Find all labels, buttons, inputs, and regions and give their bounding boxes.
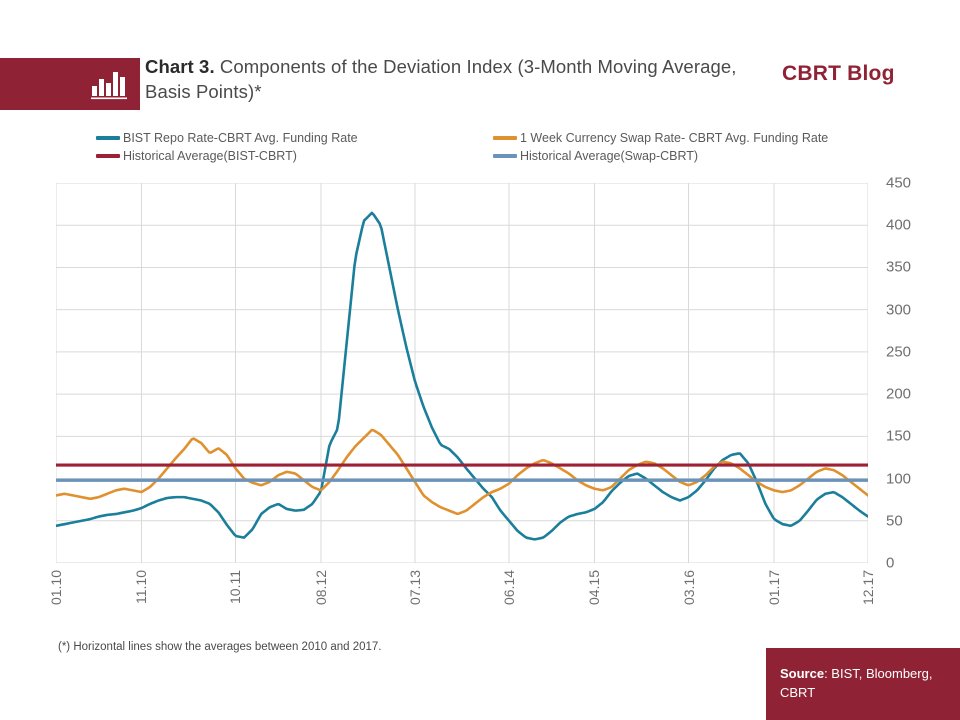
chart-svg	[56, 183, 868, 563]
brand-banner	[0, 58, 140, 110]
page-title: Chart 3. Components of the Deviation Ind…	[145, 54, 745, 104]
x-axis-tick-label: 03.16	[681, 570, 697, 605]
y-axis-tick-label: 400	[886, 217, 911, 234]
x-axis-tick-label: 08.12	[313, 570, 329, 605]
y-axis-tick-label: 50	[886, 512, 903, 529]
legend-label: BIST Repo Rate-CBRT Avg. Funding Rate	[123, 131, 358, 145]
x-axis-tick-label: 12.17	[860, 570, 876, 605]
chart-title-text: Components of the Deviation Index (3-Mon…	[145, 56, 736, 102]
x-axis-tick-label: 07.13	[407, 570, 423, 605]
x-axis-tick-label: 04.15	[586, 570, 602, 605]
legend-swatch-icon	[493, 136, 517, 140]
legend-swatch-icon	[493, 154, 517, 158]
x-axis-tick-label: 01.17	[766, 570, 782, 605]
chart-footnote: (*) Horizontal lines show the averages b…	[58, 641, 381, 653]
page-header: Chart 3. Components of the Deviation Ind…	[0, 58, 960, 110]
legend-label: Historical Average(BIST-CBRT)	[123, 149, 297, 163]
y-axis-tick-label: 250	[886, 343, 911, 360]
legend-item[interactable]: Historical Average(Swap-CBRT)	[493, 149, 698, 163]
brand-title: CBRT Blog	[782, 62, 895, 86]
x-axis-tick-label: 01.10	[48, 570, 64, 605]
bar-chart-icon	[90, 68, 130, 100]
x-axis-tick-label: 10.11	[227, 570, 243, 604]
y-axis-tick-label: 200	[886, 386, 911, 403]
x-axis-tick-label: 11.10	[133, 570, 149, 604]
legend-label: 1 Week Currency Swap Rate- CBRT Avg. Fun…	[520, 131, 828, 145]
y-axis-tick-label: 0	[886, 555, 894, 572]
y-axis-tick-label: 300	[886, 301, 911, 318]
series-line-1	[56, 430, 868, 514]
legend-label: Historical Average(Swap-CBRT)	[520, 149, 698, 163]
y-axis-tick-label: 150	[886, 428, 911, 445]
series-line-0	[56, 213, 868, 539]
chart-canvas	[56, 183, 868, 563]
y-axis-tick-label: 350	[886, 259, 911, 276]
x-axis-labels: 01.1011.1010.1108.1207.1306.1404.1503.16…	[56, 568, 868, 628]
y-axis-tick-label: 450	[886, 175, 911, 192]
legend-swatch-icon	[96, 136, 120, 140]
legend-item[interactable]: Historical Average(BIST-CBRT)	[96, 149, 297, 163]
legend-item[interactable]: 1 Week Currency Swap Rate- CBRT Avg. Fun…	[493, 131, 828, 145]
chart-legend: BIST Repo Rate-CBRT Avg. Funding Rate1 W…	[96, 131, 916, 167]
legend-item[interactable]: BIST Repo Rate-CBRT Avg. Funding Rate	[96, 131, 358, 145]
x-axis-tick-label: 06.14	[501, 570, 517, 605]
legend-swatch-icon	[96, 154, 120, 158]
chart-plot-area: 050100150200250300350400450	[0, 170, 960, 570]
y-axis-labels: 050100150200250300350400450	[878, 170, 948, 570]
chart-number-label: Chart 3.	[145, 56, 215, 77]
source-box: Source: BIST, Bloomberg, CBRT	[766, 648, 960, 720]
y-axis-tick-label: 100	[886, 470, 911, 487]
source-label: Source	[780, 666, 824, 681]
